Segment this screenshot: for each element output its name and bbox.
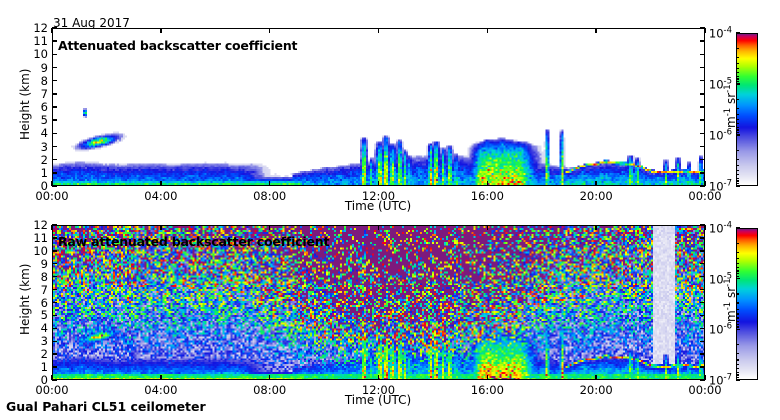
cb-exponent: -4 <box>724 221 732 231</box>
colorbar-minor-tick <box>736 76 739 77</box>
colorbar-minor-tick <box>736 273 739 274</box>
colorbar-minor-tick <box>736 326 739 327</box>
y-tick <box>52 133 57 134</box>
x-tick-top <box>269 28 270 33</box>
cb-unit-m-bottom: m <box>724 310 738 322</box>
colorbar-minor-tick <box>736 252 739 253</box>
y-tick <box>52 172 57 173</box>
colorbar-tick <box>736 329 740 330</box>
cb-unit-exp2-bottom: -1 <box>723 278 733 286</box>
y-tick <box>52 353 57 354</box>
y-tick-right <box>700 315 705 316</box>
colorbar-minor-tick <box>736 374 739 375</box>
y-tick-right <box>700 54 705 55</box>
y-tick <box>52 366 57 367</box>
colorbar-minor-tick <box>736 81 739 82</box>
cb-unit-sr-top: sr <box>724 93 738 108</box>
colorbar-minor-tick <box>736 174 739 175</box>
y-tick-right <box>700 119 705 120</box>
cb-unit-sr-bottom: sr <box>724 287 738 302</box>
y-tick <box>52 237 57 238</box>
colorbar-minor-tick <box>736 57 739 58</box>
y-tick <box>52 224 57 225</box>
y-tick-label: 10 <box>20 47 48 61</box>
x-tick-top <box>487 28 488 33</box>
y-tick-right <box>700 341 705 342</box>
y-axis-title-bottom: Height (km) <box>18 264 32 335</box>
x-tick-label: 08:00 <box>253 189 286 203</box>
x-tick-label: 00:00 <box>35 383 68 397</box>
colorbar-minor-tick <box>736 344 739 345</box>
y-tick-label: 3 <box>20 334 48 348</box>
y-tick-right <box>700 302 705 303</box>
x-tick-top <box>595 28 596 33</box>
y-tick <box>52 250 57 251</box>
x-tick-label: 08:00 <box>253 383 286 397</box>
colorbar-minor-tick <box>736 72 739 73</box>
x-tick <box>595 181 596 186</box>
x-tick-label: 04:00 <box>144 383 177 397</box>
x-tick <box>487 181 488 186</box>
colorbar-tick <box>736 134 740 135</box>
y-tick-right <box>700 366 705 367</box>
colorbar-tick <box>736 227 740 228</box>
y-tick-right <box>700 93 705 94</box>
colorbar-minor-tick <box>736 353 739 354</box>
colorbar-tick-label: 10-6 <box>698 128 732 143</box>
cb-mantissa: 10 <box>709 323 724 337</box>
cb-mantissa: 10 <box>709 373 724 387</box>
y-tick-right <box>700 146 705 147</box>
y-tick-right <box>700 159 705 160</box>
y-tick <box>52 289 57 290</box>
x-tick-label: 00:00 <box>35 189 68 203</box>
cb-exponent: -4 <box>724 26 732 36</box>
figure-footer: Gual Pahari CL51 ceilometer <box>6 399 206 414</box>
y-tick-right <box>700 67 705 68</box>
colorbar-minor-tick <box>736 48 739 49</box>
y-tick-right <box>700 106 705 107</box>
colorbar-tick-label: 10-4 <box>698 221 732 236</box>
y-tick-label: 10 <box>20 244 48 258</box>
colorbar-minor-tick <box>736 243 739 244</box>
cb-mantissa: 10 <box>709 26 724 40</box>
x-tick-top <box>378 28 379 33</box>
cb-unit-exp1-top: -1 <box>723 108 733 116</box>
y-tick-right <box>700 237 705 238</box>
colorbar-tick-label: 10-4 <box>698 26 732 41</box>
y-tick-label: 3 <box>20 140 48 154</box>
x-tick <box>51 375 52 380</box>
cb-mantissa: 10 <box>709 179 724 193</box>
x-tick <box>269 375 270 380</box>
y-axis-title-top: Height (km) <box>18 69 32 140</box>
colorbar-minor-tick <box>736 258 739 259</box>
y-tick-right <box>700 250 705 251</box>
y-tick <box>52 341 57 342</box>
colorbar-unit-bottom: m-1 sr-1 <box>723 278 738 322</box>
colorbar-minor-tick <box>736 270 739 271</box>
y-tick <box>52 276 57 277</box>
colorbar-minor-tick <box>736 178 739 179</box>
x-tick-top <box>595 225 596 230</box>
x-tick-top <box>378 225 379 230</box>
colorbar-minor-tick <box>736 150 739 151</box>
cb-exponent: -7 <box>724 373 732 383</box>
y-tick <box>52 67 57 68</box>
y-tick <box>52 40 57 41</box>
x-tick <box>378 181 379 186</box>
cb-mantissa: 10 <box>709 128 724 142</box>
x-tick-label: 16:00 <box>471 383 504 397</box>
colorbar-tick-label: 10-6 <box>698 322 732 337</box>
x-tick-top <box>51 225 52 230</box>
x-tick <box>487 375 488 380</box>
colorbar-minor-tick <box>736 132 739 133</box>
colorbar-unit-top: m-1 sr-1 <box>723 84 738 128</box>
y-tick-right <box>700 172 705 173</box>
colorbar-minor-tick <box>736 68 739 69</box>
colorbar-minor-tick <box>736 183 739 184</box>
y-tick <box>52 328 57 329</box>
x-tick <box>160 375 161 380</box>
cb-exponent: -7 <box>724 179 732 189</box>
colorbar-minor-tick <box>736 267 739 268</box>
y-tick-label: 2 <box>20 153 48 167</box>
colorbar-bottom <box>736 228 758 380</box>
colorbar-minor-tick <box>736 368 739 369</box>
y-tick <box>52 27 57 28</box>
y-tick-right <box>700 263 705 264</box>
colorbar-top <box>736 33 758 186</box>
colorbar-tick <box>736 185 740 186</box>
colorbar-minor-tick <box>736 159 739 160</box>
cb-mantissa: 10 <box>709 221 724 235</box>
colorbar-tick-label: 10-7 <box>698 373 732 388</box>
colorbar-minor-tick <box>736 263 739 264</box>
x-tick-top <box>269 225 270 230</box>
y-tick-label: 11 <box>20 34 48 48</box>
colorbar-minor-tick <box>736 78 739 79</box>
y-tick-right <box>700 289 705 290</box>
x-axis-title-top: Time (UTC) <box>345 199 411 213</box>
y-tick-label: 11 <box>20 231 48 245</box>
y-tick-right <box>700 353 705 354</box>
y-tick <box>52 263 57 264</box>
colorbar-tick <box>736 32 740 33</box>
x-tick <box>51 181 52 186</box>
y-tick <box>52 185 57 186</box>
x-tick-label: 20:00 <box>580 189 613 203</box>
x-tick-top <box>160 225 161 230</box>
y-tick <box>52 159 57 160</box>
y-tick-label: 1 <box>20 360 48 374</box>
y-tick <box>52 106 57 107</box>
cb-unit-exp1-bottom: -1 <box>723 302 733 310</box>
colorbar-minor-tick <box>736 372 739 373</box>
cb-exponent: -6 <box>724 128 732 138</box>
y-tick-label: 12 <box>20 218 48 232</box>
cb-unit-exp2-top: -1 <box>723 84 733 92</box>
colorbar-minor-tick <box>736 324 739 325</box>
y-tick <box>52 119 57 120</box>
colorbar-minor-tick <box>736 129 739 130</box>
y-tick-label: 12 <box>20 21 48 35</box>
x-tick-label: 20:00 <box>580 383 613 397</box>
y-tick-right <box>700 40 705 41</box>
x-tick-top <box>487 225 488 230</box>
x-tick <box>269 181 270 186</box>
y-tick <box>52 80 57 81</box>
colorbar-minor-tick <box>736 364 739 365</box>
y-tick-label: 1 <box>20 166 48 180</box>
x-tick-label: 16:00 <box>471 189 504 203</box>
x-tick-top <box>51 28 52 33</box>
y-tick <box>52 315 57 316</box>
y-tick <box>52 54 57 55</box>
colorbar-minor-tick <box>736 165 739 166</box>
colorbar-minor-tick <box>736 359 739 360</box>
cb-mantissa: 10 <box>709 272 724 286</box>
plot-title-raw-attenuated-backscatter: Raw attenuated backscatter coefficient <box>58 234 329 249</box>
colorbar-tick-label: 10-7 <box>698 179 732 194</box>
cb-mantissa: 10 <box>709 77 724 91</box>
x-axis-title-bottom: Time (UTC) <box>345 393 411 407</box>
y-tick-label: 2 <box>20 347 48 361</box>
x-tick-label: 04:00 <box>144 189 177 203</box>
colorbar-tick <box>736 379 740 380</box>
colorbar-minor-tick <box>736 377 739 378</box>
y-tick <box>52 93 57 94</box>
colorbar-minor-tick <box>736 276 739 277</box>
cb-exponent: -6 <box>724 322 732 332</box>
colorbar-minor-tick <box>736 170 739 171</box>
colorbar-minor-tick <box>736 63 739 64</box>
cb-unit-m-top: m <box>724 116 738 128</box>
x-tick <box>595 375 596 380</box>
x-tick-top <box>160 28 161 33</box>
colorbar-minor-tick <box>736 180 739 181</box>
y-tick <box>52 302 57 303</box>
y-tick <box>52 379 57 380</box>
plot-title-attenuated-backscatter: Attenuated backscatter coefficient <box>58 38 297 53</box>
x-tick <box>160 181 161 186</box>
x-tick <box>378 375 379 380</box>
y-tick <box>52 146 57 147</box>
